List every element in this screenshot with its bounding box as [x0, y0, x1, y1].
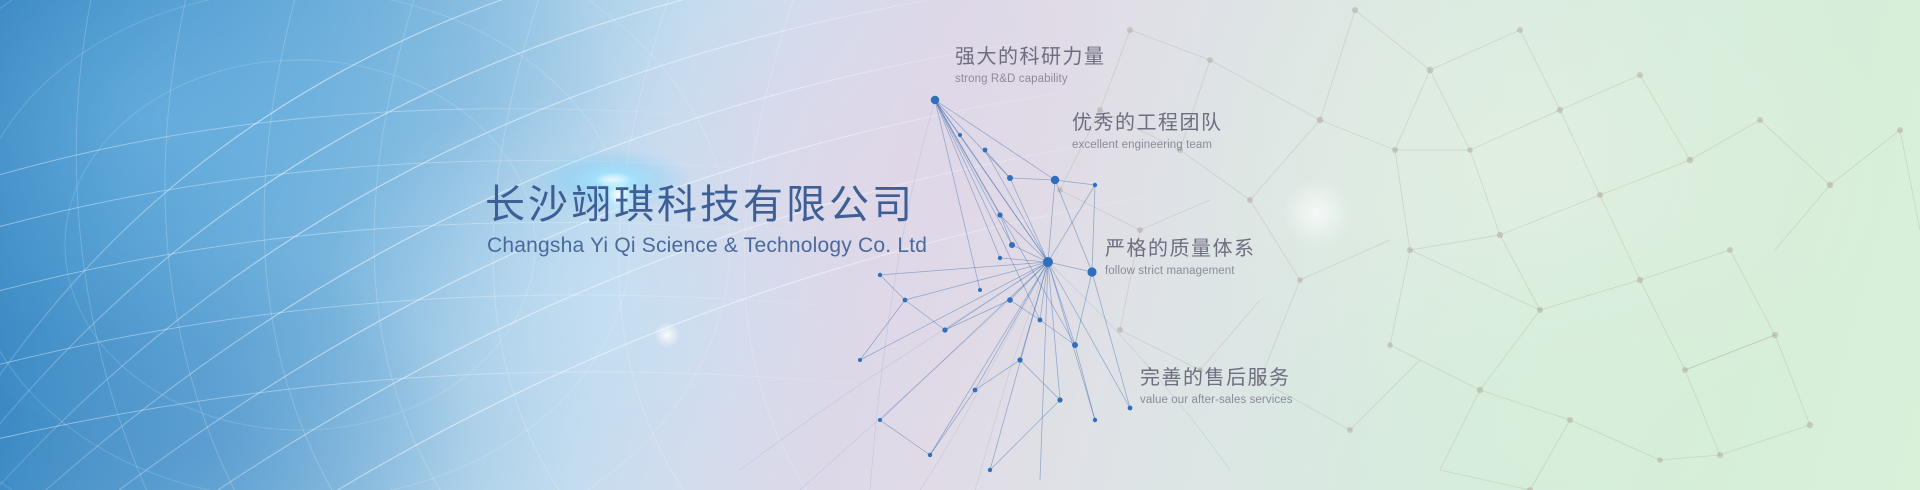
company-name-cn: 长沙翊琪科技有限公司	[485, 180, 927, 230]
feature-label-cn: 强大的科研力量	[955, 44, 1106, 70]
feature-label-en: value our after-sales services	[1140, 394, 1293, 406]
company-title-block: 长沙翊琪科技有限公司 Changsha Yi Qi Science & Tech…	[485, 180, 927, 258]
background-glow-center	[330, 90, 850, 450]
feature-label-cn: 严格的质量体系	[1105, 236, 1256, 262]
feature-item-service: 完善的售后服务 value our after-sales services	[1140, 365, 1293, 406]
background-glow-lower-left	[0, 240, 480, 490]
feature-label-cn: 完善的售后服务	[1140, 365, 1293, 391]
feature-label-en: excellent engineering team	[1072, 139, 1223, 151]
feature-label-en: follow strict management	[1105, 265, 1256, 277]
company-name-en: Changsha Yi Qi Science & Technology Co. …	[487, 234, 927, 258]
feature-item-rd: 强大的科研力量 strong R&D capability	[955, 44, 1106, 85]
feature-label-cn: 优秀的工程团队	[1072, 110, 1223, 136]
hero-banner: 长沙翊琪科技有限公司 Changsha Yi Qi Science & Tech…	[0, 0, 1920, 490]
background-glow-lower-right	[1280, 210, 1900, 490]
feature-item-team: 优秀的工程团队 excellent engineering team	[1072, 110, 1223, 151]
feature-label-en: strong R&D capability	[955, 73, 1106, 85]
lens-flare-right	[1282, 178, 1352, 248]
lens-flare-small	[654, 322, 680, 348]
feature-item-quality: 严格的质量体系 follow strict management	[1105, 236, 1256, 277]
